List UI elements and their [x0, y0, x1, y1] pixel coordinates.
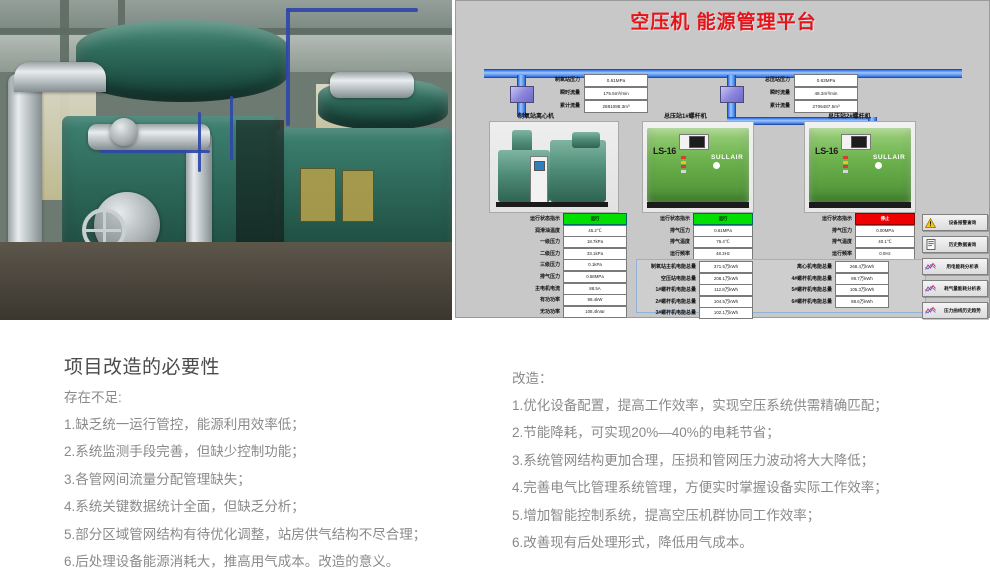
warning-icon — [923, 216, 938, 229]
photo-blue-conduit — [100, 150, 210, 153]
necessity-column: 项目改造的必要性 存在不足: 1.缺乏统一运行管控，能源利用效率低； 2.系统监… — [64, 352, 494, 583]
data-label: 运行状态指示 — [804, 214, 855, 224]
screw-2-model-badge: LS-16 — [815, 146, 838, 156]
photo-insulated-pipe — [330, 72, 414, 98]
photo-pressure-vessel — [76, 20, 288, 102]
report-icon — [923, 238, 938, 251]
list-item: 3.各管网间流量分配管理缺失； — [64, 473, 494, 487]
data-row: 二级压力33.1kPa — [514, 249, 627, 259]
page-title: 项目改造的必要性 — [64, 352, 494, 379]
status-badge: 运行 — [563, 213, 627, 225]
right-pipeline-readout: 总压站压力 0.63MPa 瞬时流量 48.3m³/min 累计流量 27064… — [744, 75, 858, 114]
data-label: 排气压力 — [514, 272, 563, 282]
data-row: 排气压力0.61MPa — [642, 226, 753, 236]
led-indicator — [681, 165, 686, 168]
necessity-lead: 存在不足: — [64, 391, 494, 406]
power-analysis-button[interactable]: 用电能耗分析表 — [922, 258, 988, 275]
trend-chart-icon — [923, 282, 938, 295]
data-label: 排气压力 — [804, 226, 855, 236]
led-indicator — [843, 156, 848, 159]
list-item: 6.后处理设备能源消耗大，推高用气成本。改造的意义。 — [64, 555, 494, 569]
trend-chart-icon — [923, 260, 938, 273]
data-row: 运行状态指示运行 — [514, 214, 627, 224]
data-label: 6#螺杆机电能总量 — [778, 297, 835, 307]
list-item: 6.改善现有后处理形式，降低用气成本。 — [512, 536, 982, 550]
list-item: 4.完善电气比管理系统管理，方便实时掌握设备实际工作效率； — [512, 481, 982, 495]
readout-row: 瞬时流量 175.5m³/min — [534, 88, 648, 99]
improvement-column: 改造： 1.优化设备配置，提高工作效率，实现空压系统供需精确匹配； 2.节能降耗… — [512, 372, 982, 564]
data-label: 有功功率 — [514, 295, 563, 305]
data-value: 104.5万kWh — [699, 296, 753, 308]
history-query-button[interactable]: 历史数据查询 — [922, 236, 988, 253]
data-row: 2#螺杆机电能总量104.5万kWh — [642, 297, 753, 307]
led-indicator — [843, 170, 848, 173]
data-value: 0.0Hz — [855, 248, 915, 260]
data-label: 空压站电能总量 — [642, 274, 699, 284]
data-label: 润滑油温度 — [514, 226, 563, 236]
screw-compressor-2-image: LS-16 SULLAIR — [804, 121, 916, 213]
centrifugal-control-cabinet — [530, 156, 548, 204]
data-value: 88.5A — [563, 283, 627, 295]
data-value: 112.8万kWh — [699, 284, 753, 296]
sullair-logo-dot — [875, 162, 882, 169]
readout-label: 总压站压力 — [744, 75, 794, 86]
data-label: 一级压力 — [514, 237, 563, 247]
data-row: 三级压力0.1kPa — [514, 260, 627, 270]
photo-insulated-pipe — [14, 62, 106, 92]
data-row: 6#螺杆机电能总量88.6万kWh — [778, 297, 889, 307]
slide-root: 空压机 能源管理平台 制氧站压力 0.61MPa 瞬时流量 175.5m³/mi… — [0, 0, 990, 586]
improvement-lead: 改造： — [512, 372, 982, 387]
valve-left — [510, 86, 534, 103]
led-indicator — [681, 161, 686, 164]
data-row: 5#螺杆机电能总量105.3万kWh — [778, 285, 889, 295]
data-label: 离心机电能总量 — [778, 262, 835, 272]
centrifugal-part — [550, 140, 606, 202]
data-row: 排气温度40.1℃ — [804, 237, 915, 247]
data-value: 108.4kVar — [563, 306, 627, 318]
scada-panel: 空压机 能源管理平台 制氧站压力 0.61MPa 瞬时流量 175.5m³/mi… — [455, 0, 990, 318]
pressure-trend-button[interactable]: 压力曲线历史趋势 — [922, 302, 988, 319]
data-value: 208.1万kWh — [699, 273, 753, 285]
readout-value: 0.61MPa — [584, 74, 648, 87]
data-value: 268.4万kWh — [835, 261, 889, 273]
data-label: 主电机电流 — [514, 284, 563, 294]
data-value: 105.3万kWh — [835, 284, 889, 296]
readout-label: 瞬时流量 — [744, 88, 794, 99]
valve-right — [720, 86, 744, 103]
screw-2-brand: SULLAIR — [873, 154, 905, 161]
status-badge: 停止 — [855, 213, 915, 225]
list-item: 1.缺乏统一运行管控，能源利用效率低； — [64, 418, 494, 432]
air-consumption-button[interactable]: 耗气量能耗分析表 — [922, 280, 988, 297]
pressure-trend-label: 压力曲线历史趋势 — [938, 304, 987, 317]
sullair-logo-dot — [713, 162, 720, 169]
readout-value: 175.5m³/min — [584, 87, 648, 100]
data-value: 0.61MPa — [693, 225, 753, 237]
screw-1-brand: SULLAIR — [711, 154, 743, 161]
data-label: 3#螺杆机电能总量 — [642, 308, 699, 318]
data-label: 1#螺杆机电能总量 — [642, 285, 699, 295]
photo-blue-conduit — [286, 8, 290, 126]
photo-insulated-pipe — [88, 124, 210, 150]
data-row: 一级压力18.7kPa — [514, 237, 627, 247]
data-label: 5#螺杆机电能总量 — [778, 285, 835, 295]
photo-floor — [0, 242, 452, 320]
data-label: 运行频率 — [642, 249, 693, 259]
data-row: 离心机电能总量268.4万kWh — [778, 262, 889, 272]
readout-value: 48.3m³/min — [794, 87, 858, 100]
data-label: 运行频率 — [804, 249, 855, 259]
data-label: 三级压力 — [514, 260, 563, 270]
air-consumption-label: 耗气量能耗分析表 — [938, 282, 987, 295]
photo-access-panel — [300, 168, 336, 222]
data-label: 二级压力 — [514, 249, 563, 259]
explanatory-text-section: 项目改造的必要性 存在不足: 1.缺乏统一运行管控，能源利用效率低； 2.系统监… — [0, 320, 990, 586]
improvement-list: 1.优化设备配置，提高工作效率，实现空压系统供需精确匹配； 2.节能降耗，可实现… — [512, 399, 982, 550]
screw-1-led-column — [681, 156, 686, 174]
list-item: 4.系统关键数据统计全面，但缺乏分析； — [64, 500, 494, 514]
data-value: 0.58MPa — [563, 271, 627, 283]
data-label: 4#螺杆机电能总量 — [778, 274, 835, 284]
list-item: 2.节能降耗，可实现20%—40%的电耗节省； — [512, 426, 982, 440]
led-indicator — [681, 170, 686, 173]
data-row: 制氧站主机电能总量371.5万kWh — [642, 262, 753, 272]
list-item: 3.系统管网结构更加合理，压损和管网压力波动将大大降低； — [512, 454, 982, 468]
data-value: 76.4℃ — [693, 236, 753, 248]
screw-2-data-table: 运行状态指示停止 排气压力0.00MPa 排气温度40.1℃ 运行频率0.0Hz — [804, 214, 915, 260]
scada-title: 空压机 能源管理平台 — [456, 7, 990, 34]
data-row: 运行状态指示运行 — [642, 214, 753, 224]
led-indicator — [681, 156, 686, 159]
screw-2-hmi-screen — [851, 136, 867, 148]
trend-chart-icon — [923, 304, 938, 317]
data-value: 102.1万kWh — [699, 307, 753, 319]
centrifugal-hmi-screen — [534, 161, 545, 171]
list-item: 2.系统监测手段完善，但缺少控制功能； — [64, 445, 494, 459]
data-value: 371.5万kWh — [699, 261, 753, 273]
readout-value: 0.63MPa — [794, 74, 858, 87]
data-value: 0.00MPa — [855, 225, 915, 237]
led-indicator — [843, 165, 848, 168]
centrifugal-compressor-image — [489, 121, 619, 213]
data-row: 无功功率108.4kVar — [514, 307, 627, 317]
data-value: 18.7kPa — [563, 236, 627, 248]
readout-label: 瞬时流量 — [534, 88, 584, 99]
readout-row: 瞬时流量 48.3m³/min — [744, 88, 858, 99]
data-row: 排气温度76.4℃ — [642, 237, 753, 247]
data-row: 运行频率0.0Hz — [804, 249, 915, 259]
photo-blue-conduit — [286, 8, 418, 12]
necessity-list: 1.缺乏统一运行管控，能源利用效率低； 2.系统监测手段完善，但缺少控制功能； … — [64, 418, 494, 569]
readout-value: 2881088.3m³ — [584, 100, 648, 113]
data-row: 3#螺杆机电能总量102.1万kWh — [642, 308, 753, 318]
centrifugal-part — [572, 132, 600, 148]
data-label: 排气压力 — [642, 226, 693, 236]
readout-label: 制氧站压力 — [534, 75, 584, 86]
list-item: 1.优化设备配置，提高工作效率，实现空压系统供需精确匹配； — [512, 399, 982, 413]
data-row: 运行频率48.3Hz — [642, 249, 753, 259]
history-query-label: 历史数据查询 — [938, 238, 987, 251]
list-item: 5.部分区域管网结构有待优化调整，站房供气结构不尽合理； — [64, 528, 494, 542]
screw-1-energy-table: 制氧站主机电能总量371.5万kWh 空压站电能总量208.1万kWh 1#螺杆… — [642, 262, 753, 320]
power-analysis-label: 用电能耗分析表 — [938, 260, 987, 273]
screw-1-data-table: 运行状态指示运行 排气压力0.61MPa 排气温度76.4℃ 运行频率48.3H… — [642, 214, 753, 260]
readout-label: 累计流量 — [744, 101, 794, 112]
screw-1-hmi-screen — [689, 136, 705, 148]
data-row: 排气压力0.58MPa — [514, 272, 627, 282]
data-value: 45.2℃ — [563, 225, 627, 237]
label-screw-2: 总压站2#螺杆机 — [828, 111, 871, 120]
led-indicator — [843, 161, 848, 164]
status-badge: 运行 — [693, 213, 753, 225]
data-label: 运行状态指示 — [642, 214, 693, 224]
list-item: 5.增加智能控制系统，提高空压机群协同工作效率； — [512, 509, 982, 523]
data-row: 有功功率98.4kW — [514, 295, 627, 305]
data-label: 排气温度 — [804, 237, 855, 247]
label-centrifugal: 制氧站离心机 — [518, 111, 554, 120]
label-screw-1: 总压站1#螺杆机 — [664, 111, 707, 120]
data-label: 排气温度 — [642, 237, 693, 247]
left-pipeline-readout: 制氧站压力 0.61MPa 瞬时流量 175.5m³/min 累计流量 2881… — [534, 75, 648, 114]
readout-row: 总压站压力 0.63MPa — [744, 75, 858, 86]
data-row: 排气压力0.00MPa — [804, 226, 915, 236]
photo-blue-conduit — [230, 96, 233, 160]
data-row: 4#螺杆机电能总量98.7万kWh — [778, 274, 889, 284]
data-label: 2#螺杆机电能总量 — [642, 297, 699, 307]
centrifugal-base — [496, 202, 608, 207]
data-value: 98.7万kWh — [835, 273, 889, 285]
screw-2-base — [809, 202, 911, 208]
data-value: 0.1kPa — [563, 259, 627, 271]
photo-access-panel — [342, 170, 374, 222]
alarm-query-button[interactable]: 设备报警查询 — [922, 214, 988, 231]
industrial-compressor-photo — [0, 0, 452, 320]
screw-2-energy-table: 离心机电能总量268.4万kWh 4#螺杆机电能总量98.7万kWh 5#螺杆机… — [778, 262, 889, 308]
data-value: 33.1kPa — [563, 248, 627, 260]
data-row: 主电机电流88.5A — [514, 284, 627, 294]
data-row: 1#螺杆机电能总量112.8万kWh — [642, 285, 753, 295]
readout-row: 制氧站压力 0.61MPa — [534, 75, 648, 86]
photo-flange — [110, 118, 138, 146]
data-value: 48.3Hz — [693, 248, 753, 260]
data-value: 88.6万kWh — [835, 296, 889, 308]
data-value: 40.1℃ — [855, 236, 915, 248]
data-row: 润滑油温度45.2℃ — [514, 226, 627, 236]
photo-blue-conduit — [198, 112, 201, 172]
data-value: 98.4kW — [563, 294, 627, 306]
alarm-query-label: 设备报警查询 — [938, 216, 987, 229]
data-label: 无功功率 — [514, 307, 563, 317]
centrifugal-data-table: 运行状态指示运行 润滑油温度45.2℃ 一级压力18.7kPa 二级压力33.1… — [514, 214, 627, 318]
data-label: 运行状态指示 — [514, 214, 563, 224]
screw-1-model-badge: LS-16 — [653, 146, 676, 156]
screw-compressor-1-image: LS-16 SULLAIR — [642, 121, 754, 213]
data-label: 制氧站主机电能总量 — [642, 262, 699, 272]
screw-1-base — [647, 202, 749, 208]
screw-2-led-column — [843, 156, 848, 174]
scada-action-buttons: 设备报警查询 历史数据查询 用电能耗分析表 耗气量能耗分析表 — [922, 214, 988, 324]
data-row: 空压站电能总量208.1万kWh — [642, 274, 753, 284]
data-row: 运行状态指示停止 — [804, 214, 915, 224]
